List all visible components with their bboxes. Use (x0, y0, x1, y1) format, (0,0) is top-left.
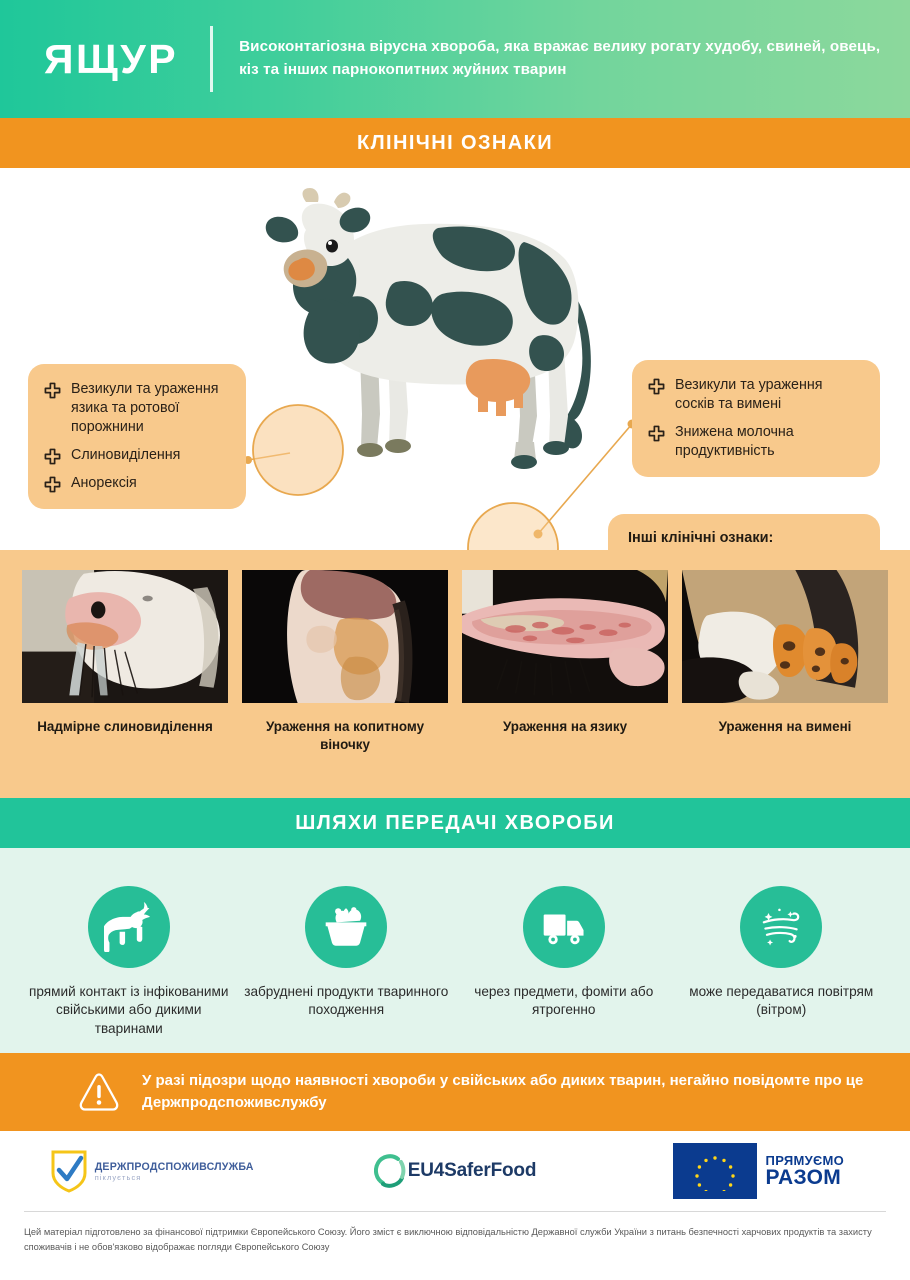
photo-coronary-band (242, 570, 448, 703)
section-band-clinical: КЛІНІЧНІ ОЗНАКИ (0, 118, 910, 168)
clinical-box-mouth: Везикули та ураження язика та ротової по… (28, 364, 246, 509)
dsps-name: ДЕРЖПРОДСПОЖИВСЛУЖБА (95, 1161, 254, 1173)
photo-caption: Ураження на копитному віночку (242, 718, 448, 754)
shield-check-icon (50, 1149, 88, 1193)
clinical-box-other-heading: Інші клінічні ознаки: (624, 530, 862, 546)
eu-together-line1: ПРЯМУЄМО (766, 1154, 845, 1167)
icon-circle (305, 886, 387, 968)
transmission-route-fomites: через предмети, фоміти або ятрогенно (455, 886, 673, 1053)
sign-item: Везикули та ураження язика та ротової по… (44, 380, 228, 437)
sign-label: Слиновиділення (71, 446, 180, 465)
food-basket-icon (321, 902, 371, 952)
transmission-label: забруднені продукти тваринного походженн… (238, 983, 456, 1020)
warning-text: У разі підозри щодо наявності хвороби у … (142, 1070, 910, 1115)
transmission-label: прямий контакт із інфікованими свійським… (20, 983, 238, 1038)
sign-label: Анорексія (71, 474, 137, 493)
logo-slot-dsps: ДЕРЖПРОДСПОЖИВСЛУЖБА піклується (0, 1149, 303, 1193)
eu4-label: EU4SaferFood (408, 1160, 537, 1182)
cross-icon (648, 425, 665, 442)
transmission-label: може передаватися повітрям (вітром) (673, 983, 891, 1020)
icon-circle (88, 886, 170, 968)
disclaimer-section: Цей матеріал підготовлено за фінансової … (24, 1211, 886, 1255)
clinical-box-udder: Везикули та ураження сосків та вимені Зн… (632, 360, 880, 477)
transmission-route-airborne: може передаватися повітрям (вітром) (673, 886, 891, 1053)
header-subtitle: Високонтагіозна вірусна хвороба, яка вра… (239, 36, 882, 82)
wind-icon (756, 902, 806, 952)
sign-label: Везикули та ураження язика та ротової по… (71, 380, 228, 437)
cross-icon (44, 448, 61, 465)
cow-illustration (252, 174, 662, 484)
photo-caption: Ураження на вимені (719, 718, 852, 736)
photo-salivation (22, 570, 228, 703)
cross-icon (648, 378, 665, 395)
header-divider (210, 26, 213, 92)
cross-icon (44, 382, 61, 399)
page-header: ЯЩУР Високонтагіозна вірусна хвороба, як… (0, 0, 910, 118)
warning-banner: У разі підозри щодо наявності хвороби у … (0, 1053, 910, 1131)
transmission-route-direct-contact: прямий контакт із інфікованими свійським… (20, 886, 238, 1053)
section-band-transmission: ШЛЯХИ ПЕРЕДАЧІ ХВОРОБИ (0, 798, 910, 848)
clinical-box-other: Інші клінічні ознаки: Аборт і раптова за… (608, 514, 880, 550)
logo-eu-together: ПРЯМУЄМО РАЗОМ (673, 1143, 845, 1199)
sign-label: Везикули та ураження сосків та вимені (675, 376, 862, 414)
icon-circle (740, 886, 822, 968)
transmission-route-contaminated-products: забруднені продукти тваринного походженн… (238, 886, 456, 1053)
clinical-signs-diagram: Везикули та ураження язика та ротової по… (0, 168, 910, 550)
photo-cell: Ураження на язику (462, 570, 668, 798)
sign-label: Знижена молочна продуктивність (675, 423, 862, 461)
dsps-tagline: піклується (95, 1173, 254, 1182)
eu4-swirl-icon (374, 1154, 406, 1188)
photo-cell: Ураження на вимені (682, 570, 888, 798)
logo-derzhprodspozhyvsluzhba: ДЕРЖПРОДСПОЖИВСЛУЖБА піклується (50, 1149, 254, 1193)
disclaimer-text: Цей матеріал підготовлено за фінансової … (24, 1225, 886, 1255)
cross-icon (44, 476, 61, 493)
logo-footer: ДЕРЖПРОДСПОЖИВСЛУЖБА піклується EU4Safer… (0, 1131, 910, 1211)
photo-udder (682, 570, 888, 703)
photo-caption: Ураження на язику (503, 718, 627, 736)
clinical-photo-strip: Надмірне слиновиділення Ураження на копи… (0, 550, 910, 798)
eu-together-line2: РАЗОМ (766, 1167, 845, 1188)
photo-cell: Надмірне слиновиділення (22, 570, 228, 798)
alert-triangle-icon (78, 1071, 120, 1113)
sign-item: Анорексія (44, 474, 228, 493)
logo-slot-eu-together: ПРЯМУЄМО РАЗОМ (607, 1143, 910, 1199)
icon-circle (523, 886, 605, 968)
transmission-routes: прямий контакт із інфікованими свійським… (0, 848, 910, 1053)
eu-flag-icon (673, 1143, 757, 1199)
goat-icon (104, 902, 154, 952)
transmission-label: через предмети, фоміти або ятрогенно (455, 983, 673, 1020)
page-title: ЯЩУР (44, 39, 178, 80)
section-band-clinical-label: КЛІНІЧНІ ОЗНАКИ (357, 132, 553, 155)
logo-eu4saferfood: EU4SaferFood (374, 1154, 537, 1188)
sign-item: Знижена молочна продуктивність (648, 423, 862, 461)
photo-tongue (462, 570, 668, 703)
sign-item: Слиновиділення (44, 446, 228, 465)
section-band-transmission-label: ШЛЯХИ ПЕРЕДАЧІ ХВОРОБИ (295, 812, 615, 835)
truck-icon (539, 902, 589, 952)
logo-slot-eu4saferfood: EU4SaferFood (303, 1154, 606, 1188)
photo-cell: Ураження на копитному віночку (242, 570, 448, 798)
eu-together-text: ПРЯМУЄМО РАЗОМ (766, 1154, 845, 1189)
sign-item: Везикули та ураження сосків та вимені (648, 376, 862, 414)
photo-caption: Надмірне слиновиділення (37, 718, 213, 736)
